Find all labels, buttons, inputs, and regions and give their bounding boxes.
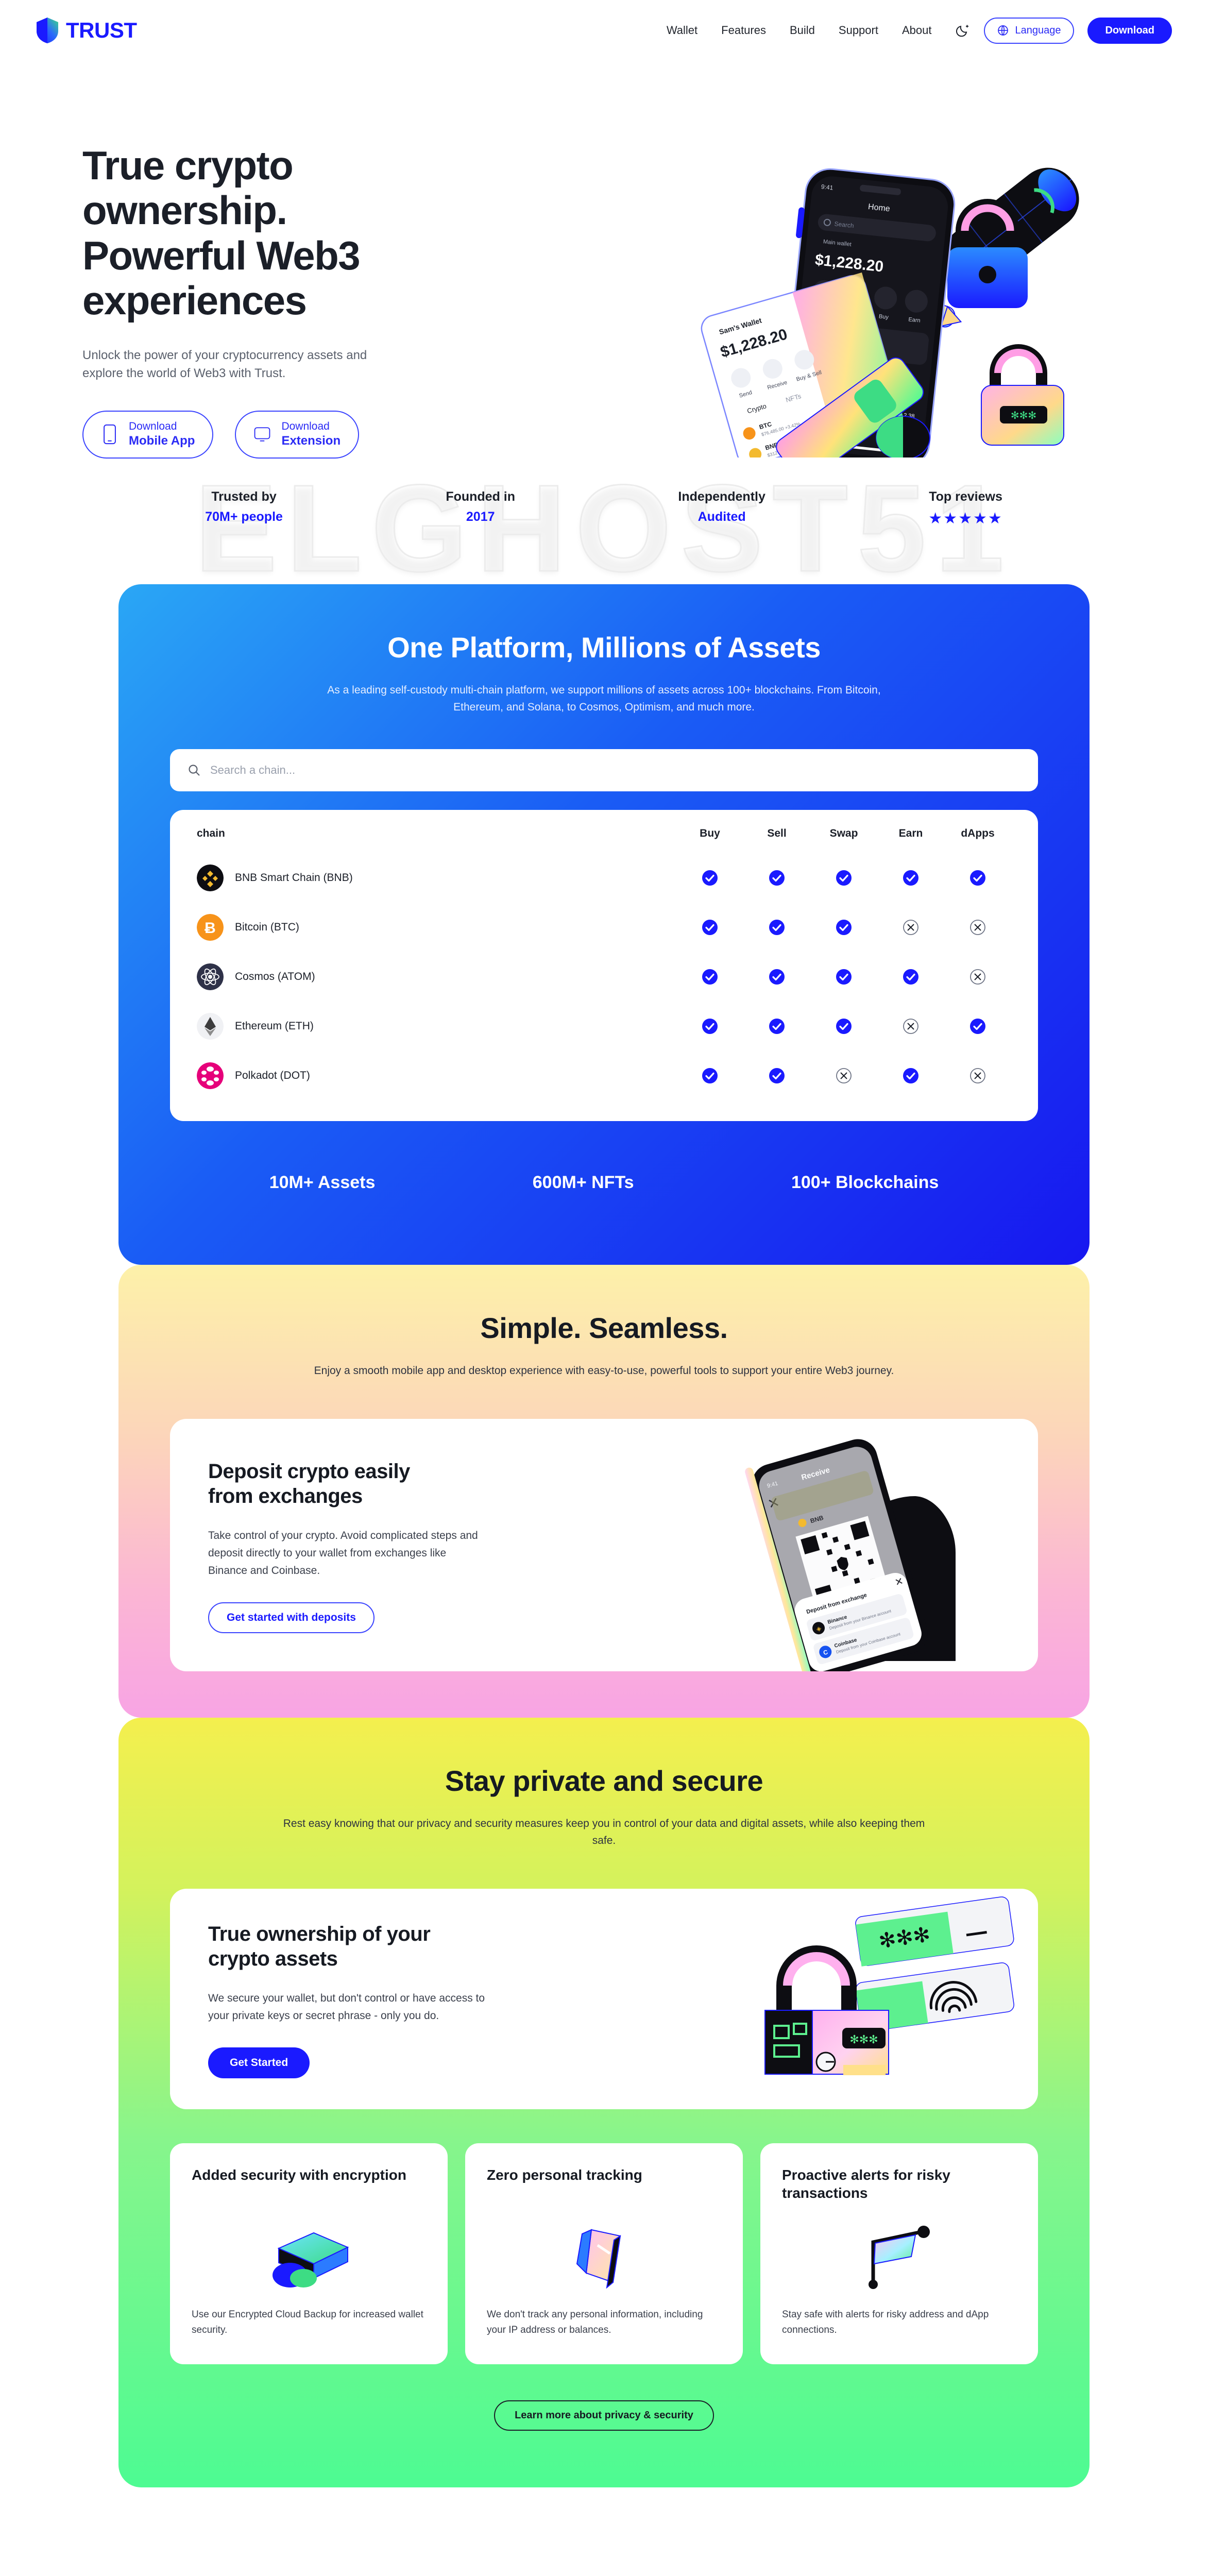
cloud-backup-icon — [192, 2219, 426, 2297]
table-row[interactable]: ɃBitcoin (BTC) — [197, 903, 1011, 952]
search-icon — [188, 764, 201, 777]
ownership-card-title: True ownership of your crypto assets — [208, 1922, 500, 1971]
download-mobile-big: Mobile App — [129, 433, 195, 449]
hero-title-line-2: ownership. — [82, 188, 287, 233]
privacy-section: Stay private and secure Rest easy knowin… — [118, 1718, 1090, 2487]
simple-subtitle: Enjoy a smooth mobile app and desktop ex… — [275, 1362, 934, 1380]
stat-nfts: 600M+ NFTs — [533, 1173, 634, 1193]
table-header-row: chain Buy Sell Swap Earn dApps — [197, 827, 1011, 853]
simple-title: Simple. Seamless. — [118, 1311, 1090, 1345]
ownership-card-body: We secure your wallet, but don't control… — [208, 1990, 486, 2025]
support-cell-earn — [877, 1002, 944, 1051]
download-extension-label: Download Extension — [281, 420, 341, 449]
trust-label-0: Trusted by — [205, 489, 283, 504]
brand-wordmark: TRUST — [66, 18, 137, 43]
feature-body-2: Stay safe with alerts for risky address … — [782, 2307, 1016, 2338]
deposit-card: Deposit crypto easily from exchanges Tak… — [170, 1419, 1038, 1671]
nav-item-features[interactable]: Features — [721, 24, 766, 37]
feature-title-0: Added security with encryption — [192, 2166, 426, 2205]
support-cell-buy — [676, 952, 743, 1002]
supported-check-icon — [768, 1018, 786, 1035]
supported-check-icon — [768, 968, 786, 986]
support-cell-sell — [743, 903, 810, 952]
privacy-subtitle: Rest easy knowing that our privacy and s… — [275, 1815, 934, 1850]
platform-section: One Platform, Millions of Assets As a le… — [118, 584, 1090, 1265]
col-header-earn: Earn — [877, 827, 944, 853]
support-cell-sell — [743, 952, 810, 1002]
platform-subtitle: As a leading self-custody multi-chain pl… — [303, 682, 906, 716]
landing-page: TRUST Wallet Features Build Support Abou… — [0, 0, 1208, 2576]
ownership-card-copy: True ownership of your crypto assets We … — [170, 1889, 500, 2109]
support-cell-sell — [743, 1051, 810, 1100]
ownership-title-line-1: True ownership of your — [208, 1923, 430, 1945]
download-ext-big: Extension — [281, 433, 341, 449]
security-illustration: ✻✻✻ — [708, 1889, 1038, 2109]
support-cell-swap — [810, 952, 877, 1002]
support-cell-dapps — [944, 903, 1011, 952]
feature-title-2: Proactive alerts for risky transactions — [782, 2166, 1016, 2205]
supported-check-icon — [969, 869, 986, 887]
supported-check-icon — [835, 919, 853, 936]
dot-coin-icon — [197, 1062, 224, 1089]
chain-cell: Ethereum (ETH) — [197, 1002, 676, 1051]
eth-coin-icon — [197, 1013, 224, 1040]
support-cell-dapps — [944, 952, 1011, 1002]
unsupported-cross-icon — [835, 1067, 853, 1084]
download-extension-button[interactable]: Download Extension — [235, 411, 359, 459]
hero-subtitle: Unlock the power of your cryptocurrency … — [82, 347, 392, 383]
download-mobile-app-button[interactable]: Download Mobile App — [82, 411, 213, 459]
chain-name: Cosmos (ATOM) — [235, 971, 315, 983]
supported-check-icon — [969, 1018, 986, 1035]
deposit-illustration: 9:41 Receive BNB — [646, 1419, 1038, 1671]
supported-check-icon — [902, 968, 920, 986]
svg-text:✻✻✻: ✻✻✻ — [849, 2033, 878, 2046]
chain-table-body: BNB Smart Chain (BNB)ɃBitcoin (BTC)Cosmo… — [197, 853, 1011, 1100]
chain-name: BNB Smart Chain (BNB) — [235, 872, 353, 884]
support-cell-dapps — [944, 1002, 1011, 1051]
get-started-button[interactable]: Get Started — [208, 2047, 310, 2078]
supported-check-icon — [902, 869, 920, 887]
svg-text:Earn: Earn — [908, 316, 921, 324]
true-ownership-card: True ownership of your crypto assets We … — [170, 1889, 1038, 2109]
supported-check-icon — [768, 919, 786, 936]
top-navigation-bar: TRUST Wallet Features Build Support Abou… — [0, 0, 1208, 61]
trust-item-reviews: Top reviews ★★★★★ — [928, 489, 1002, 528]
table-row[interactable]: BNB Smart Chain (BNB) — [197, 853, 1011, 903]
language-label: Language — [1015, 25, 1061, 37]
col-header-dapps: dApps — [944, 827, 1011, 853]
hero-title-line-3: Powerful Web3 — [82, 233, 360, 278]
learn-more-privacy-button[interactable]: Learn more about privacy & security — [494, 2400, 714, 2431]
support-cell-earn — [877, 1051, 944, 1100]
platform-stats: 10M+ Assets 600M+ NFTs 100+ Blockchains — [118, 1173, 1090, 1193]
supported-check-icon — [701, 869, 719, 887]
feature-body-1: We don't track any personal information,… — [487, 2307, 721, 2338]
chain-search-placeholder: Search a chain... — [210, 764, 295, 777]
chain-name: Ethereum (ETH) — [235, 1020, 314, 1032]
hero-title-line-1: True crypto — [82, 143, 293, 188]
hero-section: True crypto ownership. Powerful Web3 exp… — [0, 61, 1208, 459]
trust-label-3: Top reviews — [928, 489, 1002, 504]
nav-item-build[interactable]: Build — [790, 24, 815, 37]
mobile-phone-icon — [101, 424, 118, 445]
platform-title: One Platform, Millions of Assets — [118, 631, 1090, 664]
privacy-feature-cards: Added security with encryption Use our E… — [170, 2143, 1038, 2364]
globe-icon — [997, 25, 1009, 36]
shield-icon — [36, 17, 59, 44]
simple-seamless-section: Simple. Seamless. Enjoy a smooth mobile … — [118, 1265, 1090, 1718]
trust-item-founded: Founded in 2017 — [446, 489, 515, 528]
nav-item-wallet[interactable]: Wallet — [667, 24, 697, 37]
trust-indicators: Trusted by 70M+ people Founded in 2017 I… — [0, 459, 1208, 584]
supported-check-icon — [701, 1018, 719, 1035]
chain-cell: ɃBitcoin (BTC) — [197, 903, 676, 952]
supported-check-icon — [835, 968, 853, 986]
support-cell-swap — [810, 1002, 877, 1051]
supported-check-icon — [835, 1018, 853, 1035]
nav-actions: Language Download — [955, 18, 1172, 44]
supported-check-icon — [701, 1067, 719, 1084]
feature-card-alerts: Proactive alerts for risky transactions … — [760, 2143, 1038, 2364]
moon-icon[interactable] — [955, 23, 971, 38]
feature-card-encryption: Added security with encryption Use our E… — [170, 2143, 448, 2364]
trust-label-1: Founded in — [446, 489, 515, 504]
chain-name: Polkadot (DOT) — [235, 1070, 310, 1082]
btc-coin-icon: Ƀ — [197, 914, 224, 941]
feature-title-1: Zero personal tracking — [487, 2166, 721, 2205]
unsupported-cross-icon — [969, 968, 986, 986]
privacy-title: Stay private and secure — [118, 1764, 1090, 1798]
hero-title-line-4: experiences — [82, 278, 306, 323]
nav-item-support[interactable]: Support — [839, 24, 878, 37]
deposit-title-line-2: from exchanges — [208, 1485, 363, 1507]
support-cell-buy — [676, 853, 743, 903]
trust-label-2: Independently — [678, 489, 765, 504]
nav-item-about[interactable]: About — [902, 24, 932, 37]
supported-check-icon — [701, 919, 719, 936]
trust-value-0: 70M+ people — [205, 510, 283, 524]
atom-coin-icon — [197, 963, 224, 990]
support-cell-buy — [676, 1002, 743, 1051]
col-header-chain: chain — [197, 827, 676, 853]
learn-more-wrap: Learn more about privacy & security — [118, 2400, 1090, 2431]
deposit-title-line-1: Deposit crypto easily — [208, 1460, 410, 1483]
supported-check-icon — [768, 1067, 786, 1084]
trust-value-2: Audited — [678, 510, 765, 524]
support-cell-buy — [676, 1051, 743, 1100]
chain-support-table-card: chain Buy Sell Swap Earn dApps BNB Smart… — [170, 810, 1038, 1121]
col-header-swap: Swap — [810, 827, 877, 853]
deposit-card-body: Take control of your crypto. Avoid compl… — [208, 1527, 486, 1580]
alert-flag-icon — [782, 2219, 1016, 2297]
chain-support-table: chain Buy Sell Swap Earn dApps BNB Smart… — [197, 827, 1011, 1100]
chain-search-input[interactable]: Search a chain... — [170, 749, 1038, 791]
stat-assets: 10M+ Assets — [269, 1173, 376, 1193]
download-ext-small: Download — [281, 420, 329, 432]
support-cell-earn — [877, 853, 944, 903]
col-header-buy: Buy — [676, 827, 743, 853]
hero-title: True crypto ownership. Powerful Web3 exp… — [82, 143, 443, 323]
supported-check-icon — [701, 968, 719, 986]
support-cell-earn — [877, 903, 944, 952]
download-mobile-app-label: Download Mobile App — [129, 420, 195, 449]
support-cell-earn — [877, 952, 944, 1002]
supported-check-icon — [835, 869, 853, 887]
chain-name: Bitcoin (BTC) — [235, 921, 299, 934]
support-cell-sell — [743, 1002, 810, 1051]
ownership-title-line-2: crypto assets — [208, 1947, 337, 1970]
stat-blockchains: 100+ Blockchains — [791, 1173, 939, 1193]
feature-body-0: Use our Encrypted Cloud Backup for incre… — [192, 2307, 426, 2338]
svg-text:Buy: Buy — [878, 313, 889, 320]
svg-text:✻✻✻: ✻✻✻ — [1011, 410, 1036, 421]
supported-check-icon — [902, 1067, 920, 1084]
support-cell-dapps — [944, 1051, 1011, 1100]
download-button-nav[interactable]: Download — [1087, 18, 1172, 44]
get-started-with-deposits-button[interactable]: Get started with deposits — [208, 1602, 375, 1633]
support-cell-dapps — [944, 853, 1011, 903]
trust-item-trusted-by: Trusted by 70M+ people — [205, 489, 283, 528]
feature-card-no-tracking: Zero personal tracking We don't track an… — [465, 2143, 743, 2364]
chain-search-wrap: Search a chain... — [170, 749, 1038, 791]
hero-download-buttons: Download Mobile App Download Extension — [82, 411, 443, 459]
support-cell-sell — [743, 853, 810, 903]
table-row[interactable]: Ethereum (ETH) — [197, 1002, 1011, 1051]
download-mobile-small: Download — [129, 420, 177, 432]
deposit-card-title: Deposit crypto easily from exchanges — [208, 1459, 500, 1509]
chain-cell: BNB Smart Chain (BNB) — [197, 853, 676, 903]
unsupported-cross-icon — [969, 1067, 986, 1084]
deposit-card-copy: Deposit crypto easily from exchanges Tak… — [170, 1419, 500, 1671]
chain-cell: Cosmos (ATOM) — [197, 952, 676, 1002]
svg-text:Ƀ: Ƀ — [205, 920, 216, 937]
support-cell-buy — [676, 903, 743, 952]
trust-value-1: 2017 — [446, 510, 515, 524]
support-cell-swap — [810, 1051, 877, 1100]
svg-text:9:41: 9:41 — [821, 183, 833, 191]
chain-cell: Polkadot (DOT) — [197, 1051, 676, 1100]
col-header-sell: Sell — [743, 827, 810, 853]
table-row[interactable]: Cosmos (ATOM) — [197, 952, 1011, 1002]
nav-links: Wallet Features Build Support About — [667, 24, 932, 37]
trust-item-audited: Independently Audited — [678, 489, 765, 528]
trust-logo[interactable]: TRUST — [36, 17, 137, 44]
unsupported-cross-icon — [902, 1018, 920, 1035]
table-row[interactable]: Polkadot (DOT) — [197, 1051, 1011, 1100]
desktop-monitor-icon — [253, 424, 271, 445]
rating-stars-icon: ★★★★★ — [928, 510, 1002, 528]
support-cell-swap — [810, 903, 877, 952]
no-tracking-icon — [487, 2219, 721, 2297]
hero-illustration: 9:41 Home Search Main wallet $1,228.20 S… — [693, 138, 1115, 457]
bnb-coin-icon — [197, 865, 224, 891]
hero-copy: True crypto ownership. Powerful Web3 exp… — [82, 117, 443, 459]
unsupported-cross-icon — [969, 919, 986, 936]
supported-check-icon — [768, 869, 786, 887]
support-cell-swap — [810, 853, 877, 903]
language-button[interactable]: Language — [984, 18, 1074, 44]
unsupported-cross-icon — [902, 919, 920, 936]
